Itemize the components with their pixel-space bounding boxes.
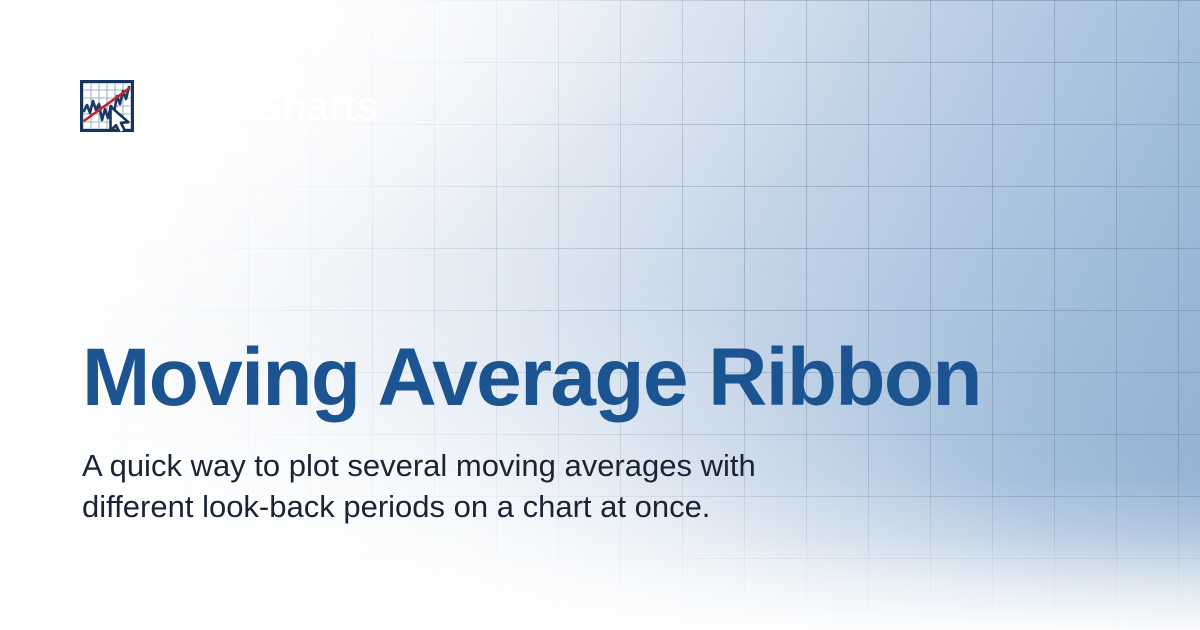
page-subtitle-line-2: different look-back periods on a chart a… xyxy=(82,486,872,527)
hero-banner: StockCharts Moving Average Ribbon A quic… xyxy=(0,0,1200,630)
brand-wordmark: StockCharts xyxy=(145,86,378,127)
hero-text-block: Moving Average Ribbon A quick way to plo… xyxy=(82,337,1102,527)
stock-chart-cursor-icon xyxy=(80,80,134,132)
page-subtitle: A quick way to plot several moving avera… xyxy=(82,445,872,527)
page-subtitle-line-1: A quick way to plot several moving avera… xyxy=(82,445,872,486)
stockcharts-logo[interactable]: StockCharts xyxy=(80,80,378,132)
page-title: Moving Average Ribbon xyxy=(82,337,1102,419)
